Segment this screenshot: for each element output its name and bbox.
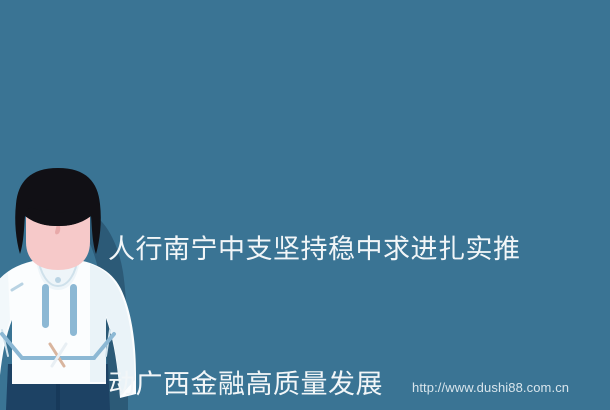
- watermark-url: http://www.dushi88.com.cn: [412, 380, 569, 396]
- page-title: 人行南宁中支坚持稳中求进扎实推 动广西金融高质量发展: [108, 137, 598, 410]
- headline-line-1: 人行南宁中支坚持稳中求进扎实推: [108, 227, 598, 272]
- poster-image: 人行南宁中支坚持稳中求进扎实推 动广西金融高质量发展 http://www.du…: [0, 0, 610, 410]
